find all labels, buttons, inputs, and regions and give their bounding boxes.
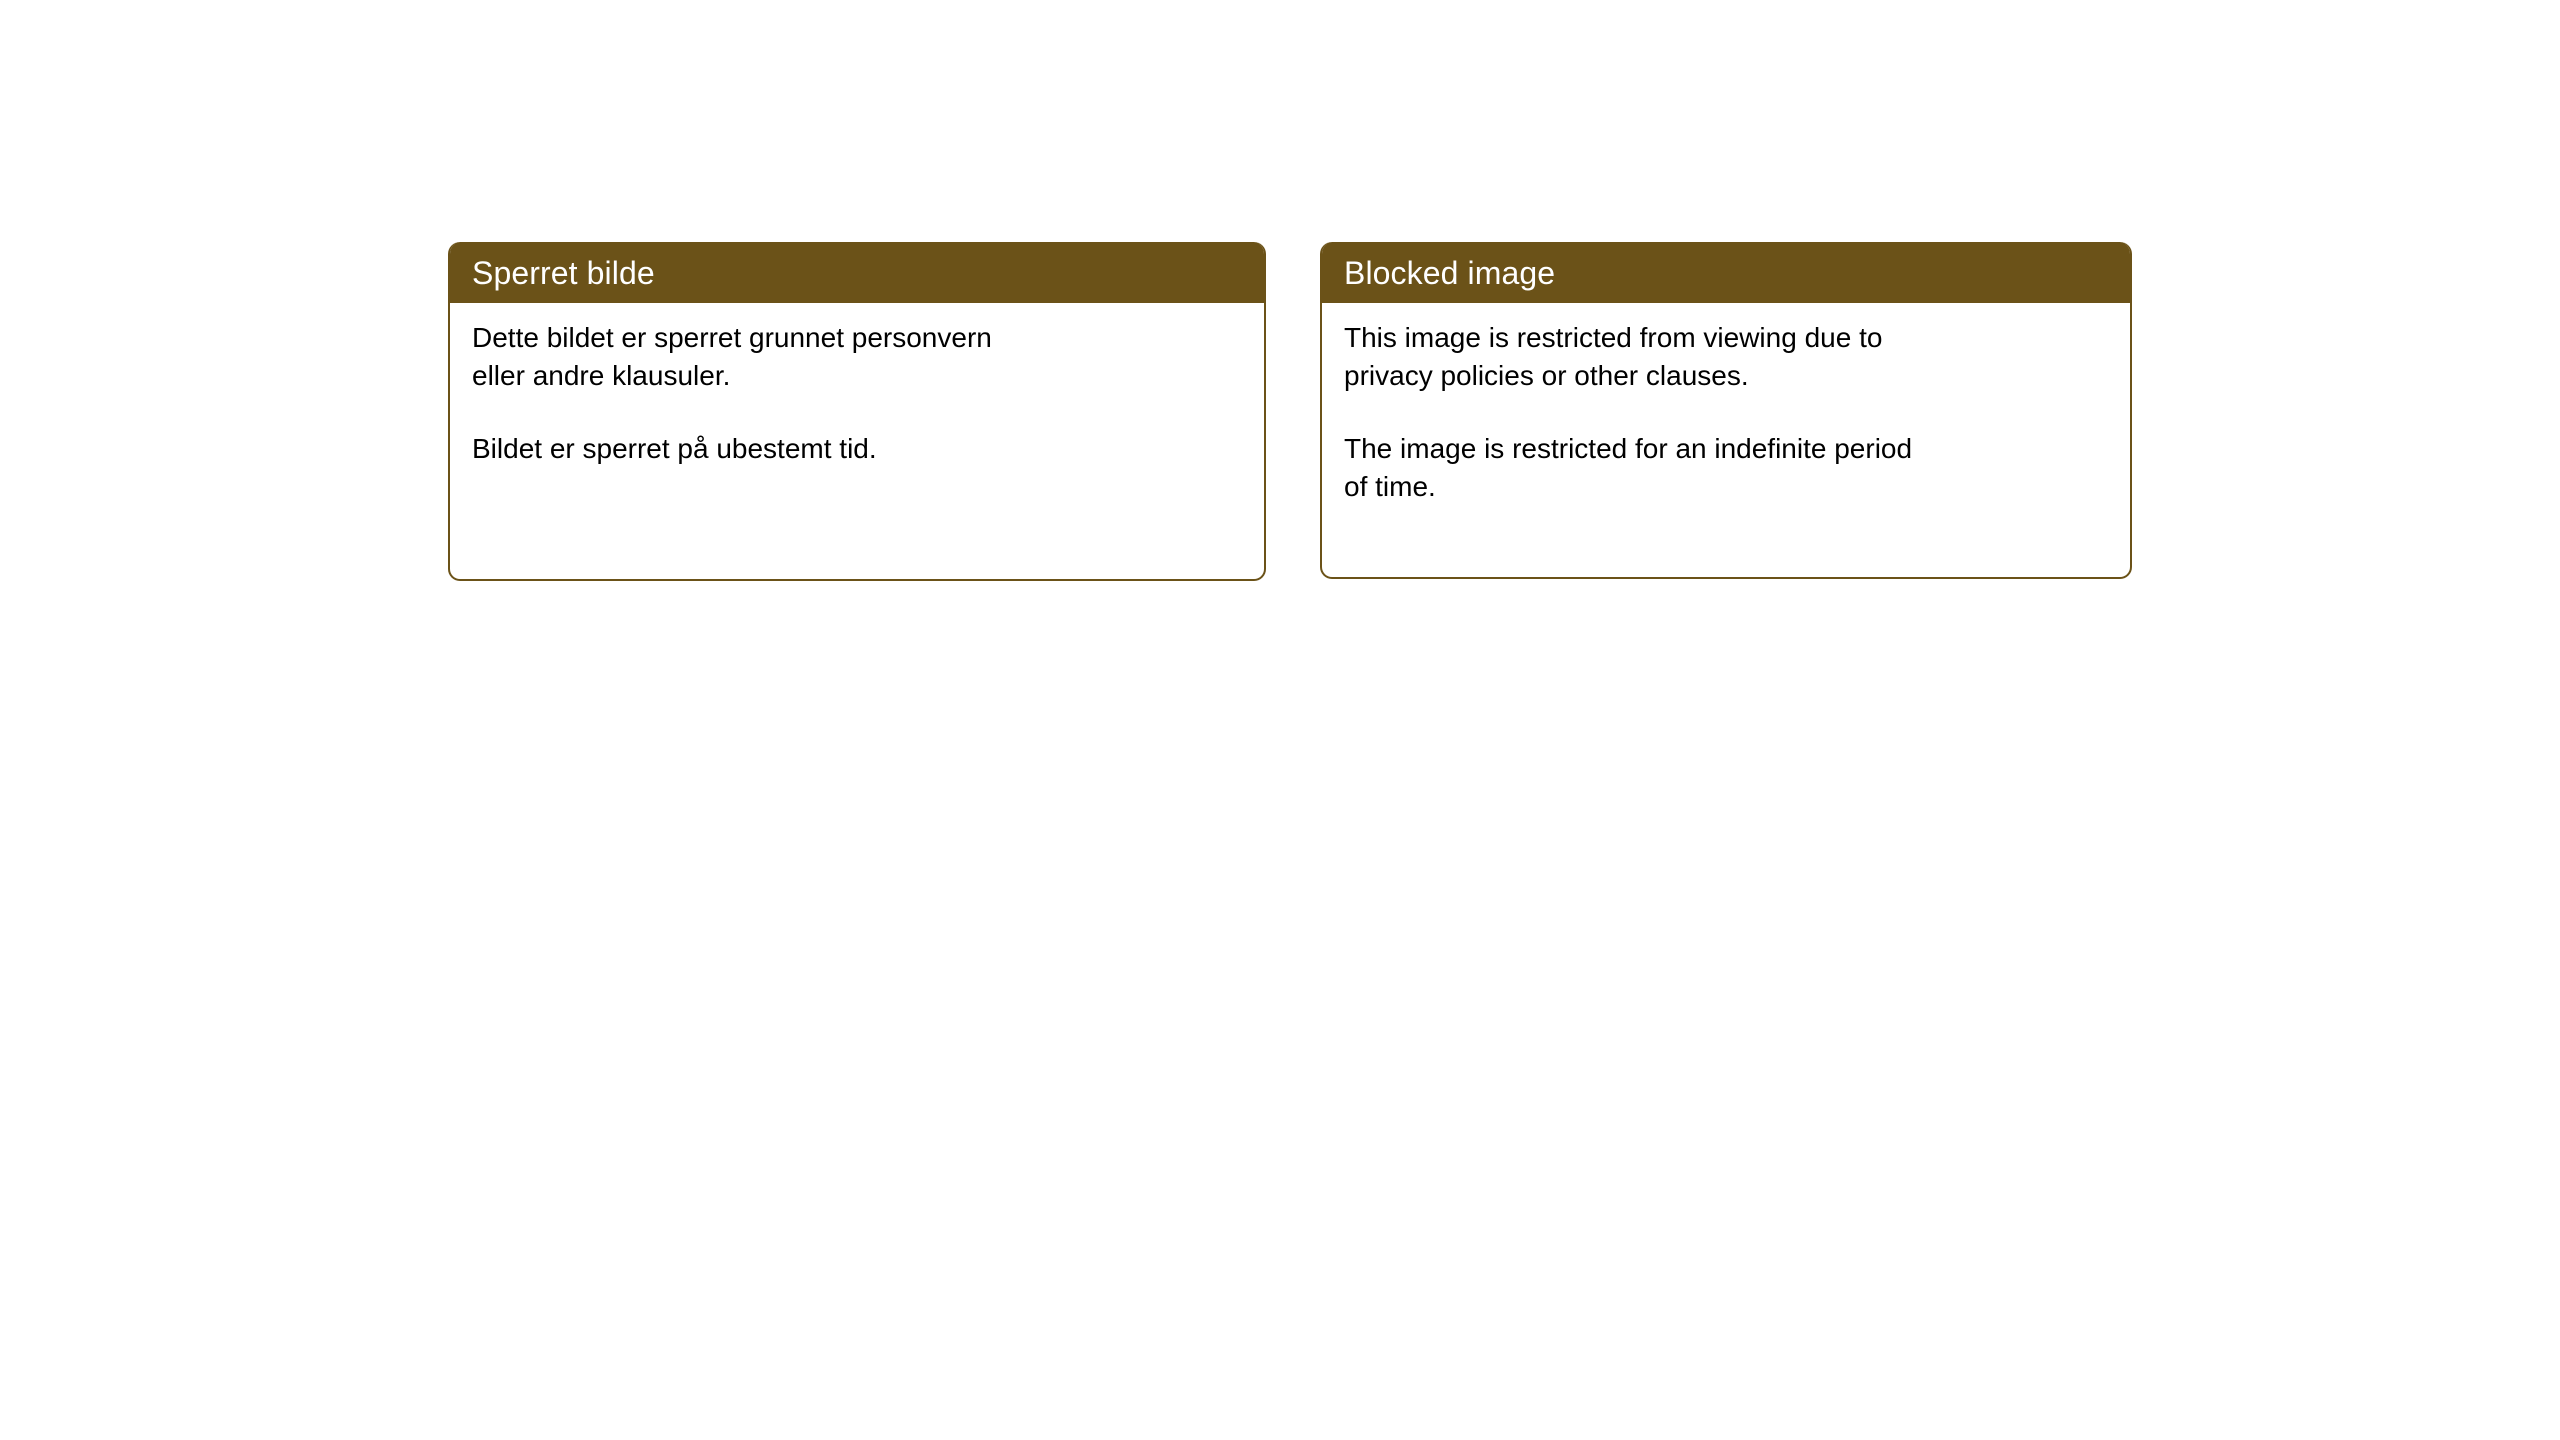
notice-paragraph-secondary-english: The image is restricted for an indefinit… [1344, 430, 2108, 505]
panel-header-norwegian: Sperret bilde [448, 242, 1266, 303]
notice-paragraph-primary-norwegian: Dette bildet er sperret grunnet personve… [472, 319, 1242, 394]
notice-paragraph-primary-english: This image is restricted from viewing du… [1344, 319, 2108, 394]
blocked-image-notice-english: Blocked image This image is restricted f… [1320, 242, 2132, 579]
panel-title-english: Blocked image [1344, 257, 1555, 289]
paragraph-spacer [472, 394, 1242, 430]
paragraph-spacer [1344, 394, 2108, 430]
panel-header-english: Blocked image [1320, 242, 2132, 303]
panel-body-english: This image is restricted from viewing du… [1322, 303, 2130, 505]
panel-body-norwegian: Dette bildet er sperret grunnet personve… [450, 303, 1264, 468]
notice-paragraph-secondary-norwegian: Bildet er sperret på ubestemt tid. [472, 430, 1242, 468]
blocked-image-notice-norwegian: Sperret bilde Dette bildet er sperret gr… [448, 242, 1266, 581]
panel-title-norwegian: Sperret bilde [472, 257, 655, 289]
page-root: Sperret bilde Dette bildet er sperret gr… [0, 0, 2560, 1440]
